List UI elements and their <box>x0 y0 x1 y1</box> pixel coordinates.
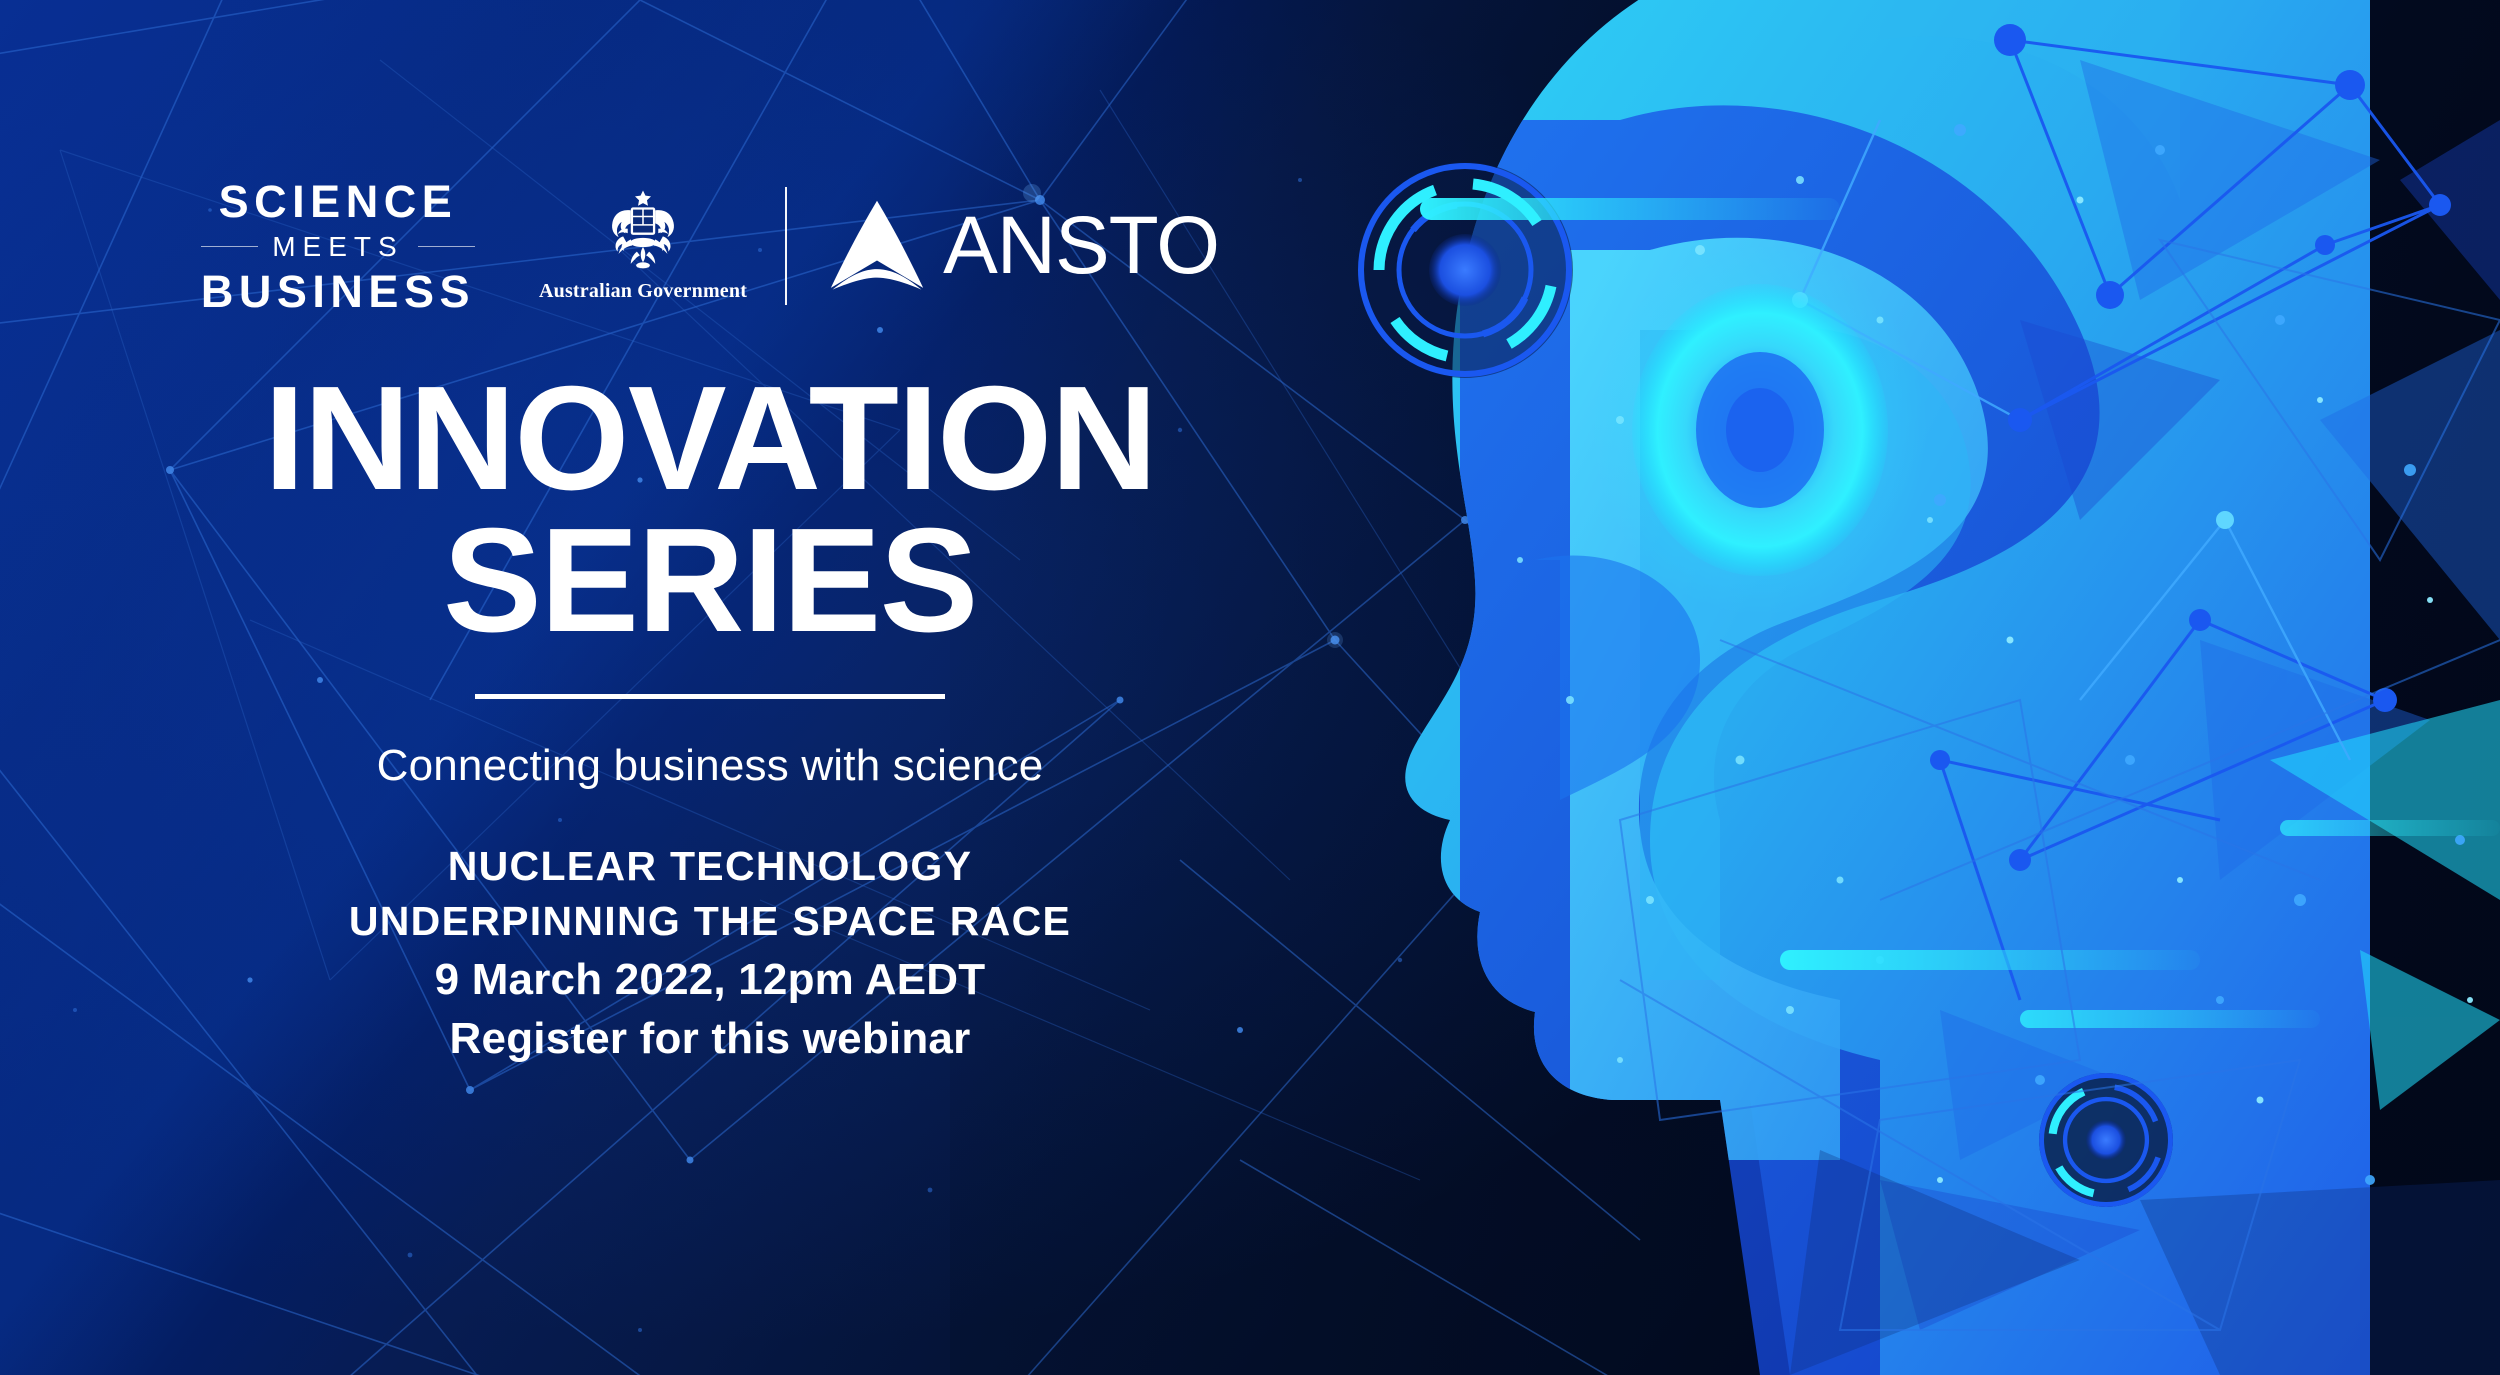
event-title-line2: UNDERPINNING THE SPACE RACE <box>349 894 1071 949</box>
smb-middle-row: MEETS <box>201 233 475 261</box>
logo-row: SCIENCE MEETS BUSINESS <box>201 186 1219 306</box>
smb-rule-left <box>201 246 258 248</box>
ansto-delta-icon <box>825 199 929 293</box>
event-details: NUCLEAR TECHNOLOGY UNDERPINNING THE SPAC… <box>349 839 1071 1068</box>
tech-head-artwork <box>1320 0 2500 1375</box>
headline-line2: SERIES <box>264 510 1156 652</box>
event-title-line1: NUCLEAR TECHNOLOGY <box>349 839 1071 894</box>
event-datetime: 9 March 2022, 12pm AEDT <box>349 951 1071 1010</box>
smb-line2: MEETS <box>272 233 403 261</box>
page-title: INNOVATION SERIES <box>264 368 1156 652</box>
science-meets-business-logo: SCIENCE MEETS BUSINESS <box>201 179 475 314</box>
australian-government-logo: Australian Government <box>539 189 747 303</box>
content-column: SCIENCE MEETS BUSINESS <box>0 0 1420 1375</box>
promo-banner: SCIENCE MEETS BUSINESS <box>0 0 2500 1375</box>
register-cta[interactable]: Register for this webinar <box>349 1010 1071 1069</box>
ansto-logo: ANSTO <box>825 199 1219 293</box>
smb-rule-right <box>418 246 475 248</box>
smb-line3: BUSINESS <box>201 269 475 314</box>
australian-government-caption: Australian Government <box>539 280 747 303</box>
hud-ring-icon <box>2039 1073 2173 1207</box>
title-divider <box>475 694 945 699</box>
ansto-wordmark: ANSTO <box>943 205 1219 287</box>
australian-coat-of-arms-icon <box>597 189 689 273</box>
headline-line1: INNOVATION <box>264 356 1156 521</box>
glowing-orb-icon <box>1592 244 1928 616</box>
smb-line1: SCIENCE <box>219 179 458 224</box>
vertical-divider-icon <box>785 187 787 305</box>
tagline: Connecting business with science <box>377 741 1044 791</box>
